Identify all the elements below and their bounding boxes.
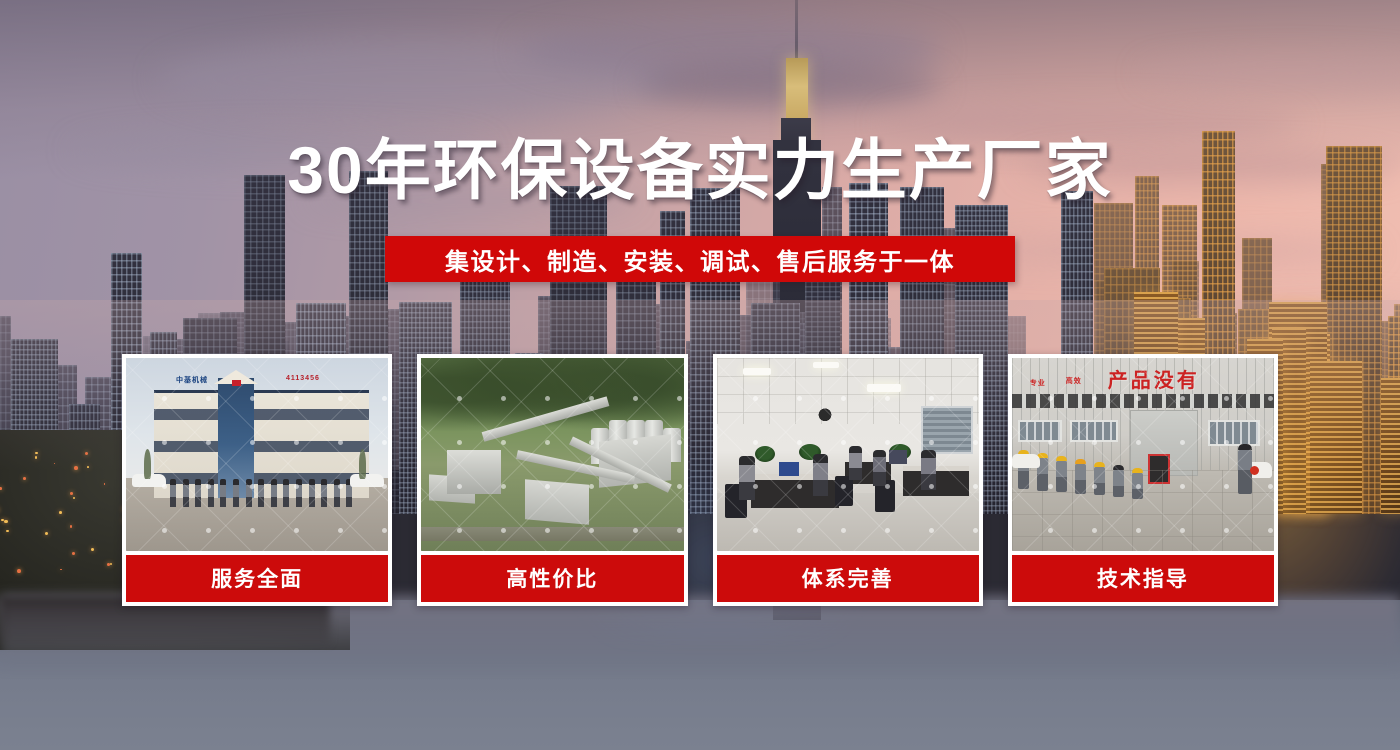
factory-wall-slogan-small: 高效 xyxy=(1066,376,1082,386)
feature-card[interactable]: 中基机械 4113456 服务全面 xyxy=(122,354,392,606)
shore-light xyxy=(60,569,62,571)
staff-figure xyxy=(170,479,176,507)
worker-figure xyxy=(1075,459,1086,494)
shore-light xyxy=(87,466,89,468)
shore-light xyxy=(74,466,78,470)
staff-figure xyxy=(334,479,340,507)
shore-light xyxy=(72,552,75,555)
shore-light xyxy=(107,563,110,566)
card-caption-bar: 服务全面 xyxy=(126,555,388,602)
flag-icon xyxy=(232,380,241,386)
staff-figure xyxy=(283,479,289,507)
shore-light xyxy=(45,532,48,535)
shore-light xyxy=(0,487,2,490)
factory-wall-slogan: 产品没有 xyxy=(1108,364,1200,393)
card-caption-text: 高性价比 xyxy=(506,563,598,593)
shore-light xyxy=(70,525,73,528)
building-phone-text: 4113456 xyxy=(286,375,320,382)
subtitle-text: 集设计、制造、安装、调试、售后服务于一体 xyxy=(445,242,955,277)
staff-figure xyxy=(233,479,239,507)
card-caption-text: 技术指导 xyxy=(1097,563,1189,593)
shore-light xyxy=(59,511,62,514)
card-caption-text: 服务全面 xyxy=(211,563,303,593)
staff-figure xyxy=(321,479,327,507)
wall-logo xyxy=(813,406,837,428)
staff-figure xyxy=(258,479,264,507)
computer-monitor xyxy=(779,462,799,476)
feature-card-list: 中基机械 4113456 服务全面 xyxy=(122,354,1278,606)
shore-light xyxy=(23,477,26,480)
feature-card[interactable]: 产品没有 专业 高效 技术指 xyxy=(1008,354,1278,606)
staff-figure xyxy=(183,479,189,507)
office-window xyxy=(921,406,973,454)
card-caption-bar: 高性价比 xyxy=(421,555,683,602)
card-photo-office-interior xyxy=(717,358,979,551)
card-photo-headquarters: 中基机械 4113456 xyxy=(126,358,388,551)
staff-figure xyxy=(309,479,315,507)
worker-figure xyxy=(1094,462,1105,495)
worker-figure xyxy=(1132,468,1143,499)
shore-light xyxy=(91,548,94,551)
shore-light xyxy=(70,492,73,495)
staff-figure xyxy=(208,479,214,507)
subtitle-bar: 集设计、制造、安装、调试、售后服务于一体 xyxy=(385,236,1015,282)
staff-figure xyxy=(220,479,226,507)
card-caption-bar: 体系完善 xyxy=(717,555,979,602)
shore-light xyxy=(73,497,76,500)
shore-light xyxy=(35,456,37,458)
red-helmet xyxy=(1250,466,1259,475)
card-caption-bar: 技术指导 xyxy=(1012,555,1274,602)
shore-light xyxy=(17,569,21,573)
staff-figure xyxy=(246,479,252,507)
shore-light xyxy=(110,563,112,565)
shore-light xyxy=(4,520,7,523)
feature-card[interactable]: 体系完善 xyxy=(713,354,983,606)
staff-figure xyxy=(271,479,277,507)
card-caption-text: 体系完善 xyxy=(802,563,894,593)
feature-card[interactable]: 高性价比 xyxy=(417,354,687,606)
staff-figure xyxy=(296,479,302,507)
computer-monitor xyxy=(889,450,907,464)
worker-figure xyxy=(1113,465,1124,497)
promo-banner: 30年环保设备实力生产厂家 集设计、制造、安装、调试、售后服务于一体 中基机械 … xyxy=(0,0,1400,750)
shore-light xyxy=(85,452,88,455)
shore-light xyxy=(35,452,37,454)
staff-figure xyxy=(195,479,201,507)
shore-light xyxy=(6,530,9,533)
card-photo-workers-factory: 产品没有 专业 高效 xyxy=(1012,358,1274,551)
card-photo-plant-aerial xyxy=(421,358,683,551)
building-sign-text: 中基机械 xyxy=(176,375,208,385)
worker-figure xyxy=(1056,456,1067,492)
shore-light xyxy=(54,463,56,465)
headline-text: 30年环保设备实力生产厂家 xyxy=(0,137,1400,203)
shore-light xyxy=(104,483,106,485)
factory-wall-slogan-small: 专业 xyxy=(1030,378,1046,388)
